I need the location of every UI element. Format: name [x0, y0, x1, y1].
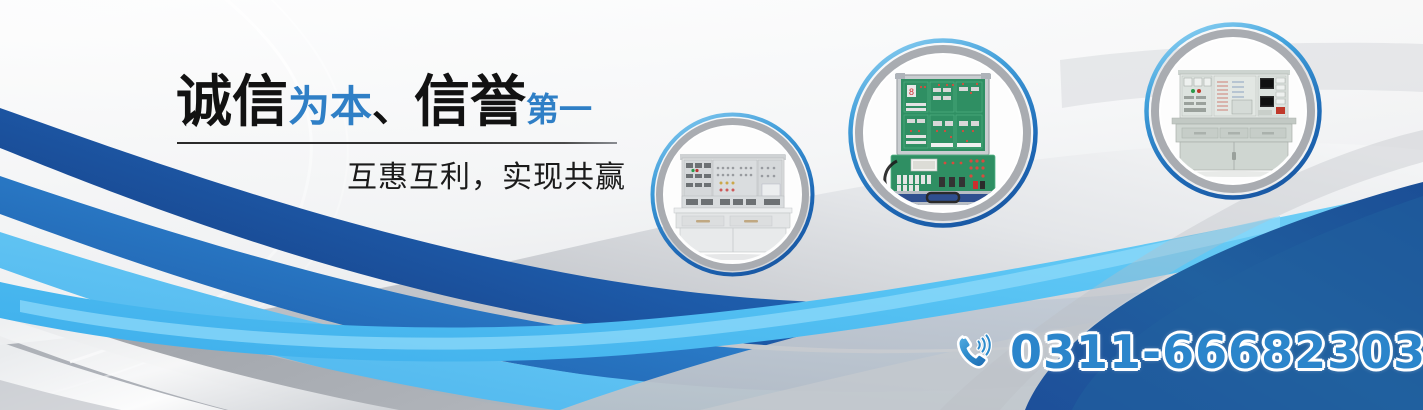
product-3-image [1162, 40, 1304, 182]
page-title: 诚信为本、信誉第一 [176, 72, 626, 141]
title-seg-3: 、 [372, 82, 414, 131]
product-circle-1 [650, 112, 815, 277]
title-seg-2: 为本 [288, 82, 372, 131]
title-seg-1: 诚信 [176, 70, 288, 135]
product-1-image [666, 128, 799, 261]
phone-ringing-icon[interactable] [952, 329, 998, 375]
title-divider [177, 142, 617, 144]
phone-number[interactable]: 0311-66682303 [1010, 325, 1423, 379]
subtitle: 互惠互利，实现共赢 [347, 152, 626, 196]
title-seg-5: 第一 [526, 90, 592, 129]
headline-block: 诚信为本、信誉第一 互惠互利，实现共赢 [176, 72, 626, 197]
title-seg-4: 信誉 [414, 70, 526, 135]
contact-phone-block[interactable]: 0311-66682303 [952, 325, 1423, 379]
svg-text:8: 8 [909, 88, 914, 98]
product-circle-3 [1144, 22, 1322, 200]
product-2-image: 8 [867, 57, 1019, 209]
promotional-banner: 8 [0, 0, 1423, 410]
product-circle-2: 8 [848, 38, 1038, 228]
